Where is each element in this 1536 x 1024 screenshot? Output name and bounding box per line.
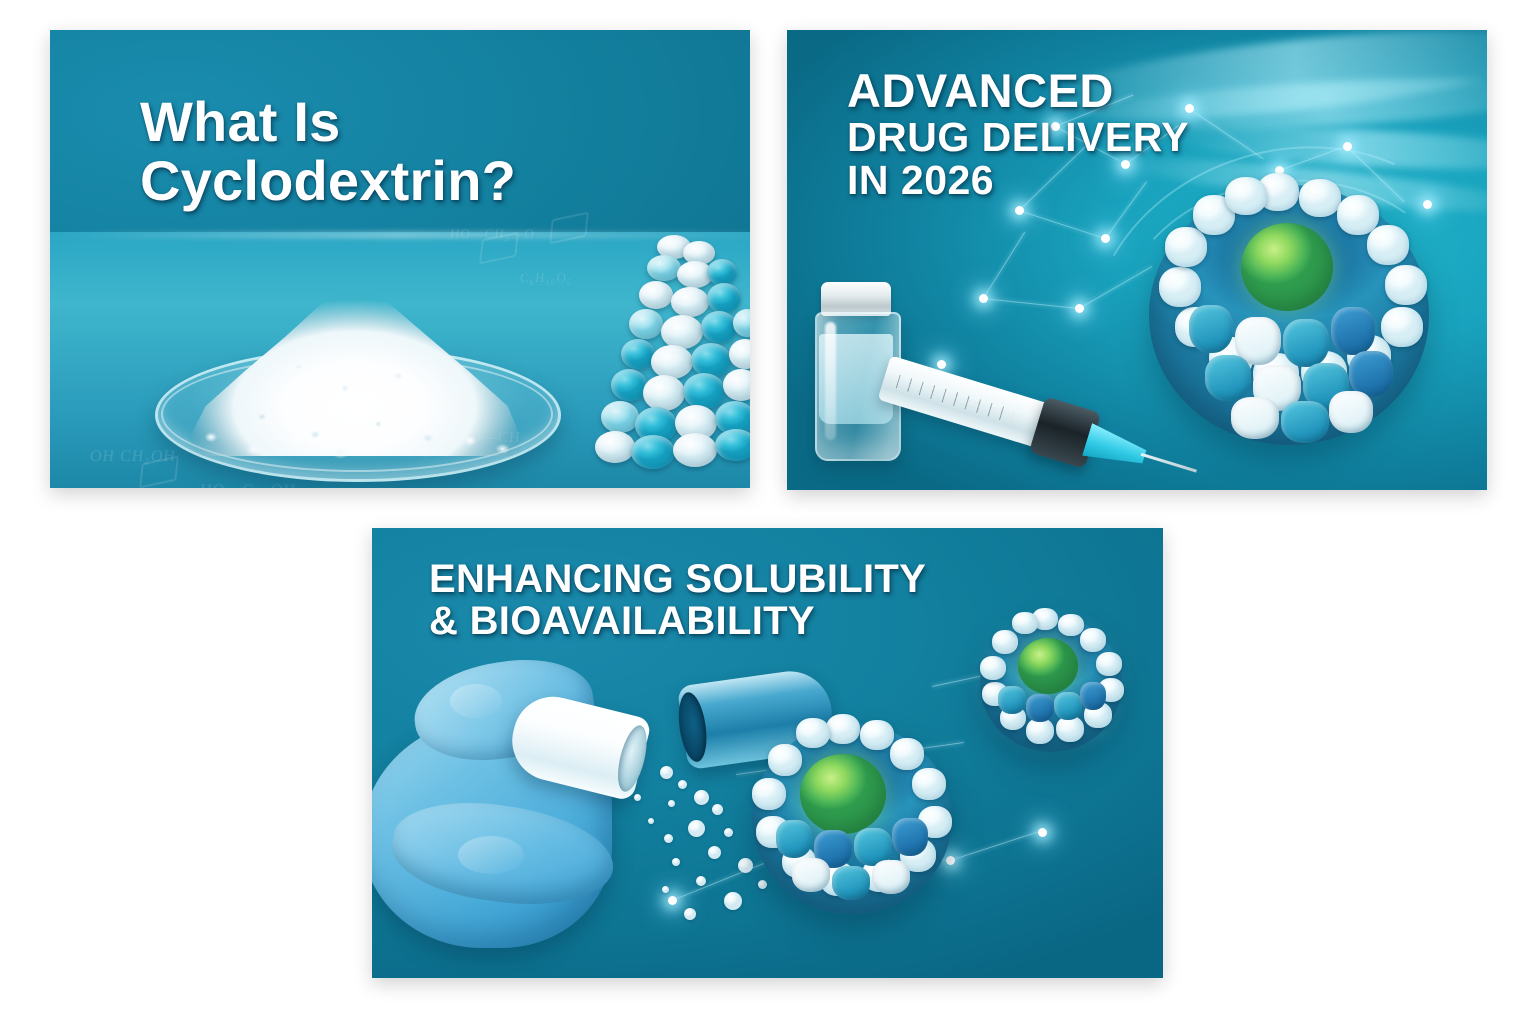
vial-highlight [825,322,836,440]
syringe-needle-cone [1082,423,1149,473]
panel-3-title: ENHANCING SOLUBILITY & BIOAVAILABILITY [429,558,926,643]
powder-granule [678,780,687,789]
title-line-1: ADVANCED [847,66,1189,116]
panel-what-is-cyclodextrin[interactable]: HO—CH₂—O C₆H₁₀O₅ OH CH₂OH HO—C—OH O—CH [50,30,750,488]
powder-granule [672,858,680,866]
powder-granule [662,886,669,893]
green-guest-molecule [1018,638,1078,694]
collage-canvas: HO—CH₂—O C₆H₁₀O₅ OH CH₂OH HO—C—OH O—CH [0,0,1536,1024]
network-node [1101,234,1110,243]
powder-granule [684,908,696,920]
title-line-2: Cyclodextrin? [140,151,516,210]
panel-2-title: ADVANCED DRUG DELIVERY IN 2026 [847,66,1189,203]
panel-advanced-drug-delivery[interactable]: ADVANCED DRUG DELIVERY IN 2026 [787,30,1487,490]
petri-dish [155,330,555,480]
glove-highlight [458,836,524,874]
network-edge [1019,210,1101,238]
panel-1-title: What Is Cyclodextrin? [140,92,516,211]
powder-granule [664,834,673,843]
panel-enhancing-solubility[interactable]: ENHANCING SOLUBILITY & BIOAVAILABILITY [372,528,1163,978]
powder-granule [688,820,705,837]
powder-granule [634,794,641,801]
glove-highlight [450,684,502,718]
powder-granule [668,800,675,807]
green-guest-molecule [800,754,886,834]
network-node [1038,828,1047,837]
cyclodextrin-inclusion-complex [1149,185,1429,445]
powder-granule [648,818,654,824]
powder-granule [694,790,709,805]
network-node [1015,206,1024,215]
network-node [979,294,988,303]
network-node [1075,304,1084,313]
vial-cap [821,282,891,316]
title-line-2: & BIOAVAILABILITY [429,600,926,642]
title-line-1: What Is [140,92,516,151]
title-line-1: ENHANCING SOLUBILITY [429,558,926,600]
title-line-3: IN 2026 [847,159,1189,202]
powder-granule [660,766,673,779]
cyclodextrin-complex-small [980,616,1122,752]
green-guest-molecule [1241,223,1333,311]
powder-granule [696,876,706,886]
network-edge [983,232,1025,299]
cyclodextrin-complex-large [752,724,952,914]
pill-pyramid [595,235,750,470]
title-line-2: DRUG DELIVERY [847,116,1189,159]
network-edge [983,298,1079,309]
powder-grains [175,414,535,472]
network-node [1343,142,1352,151]
